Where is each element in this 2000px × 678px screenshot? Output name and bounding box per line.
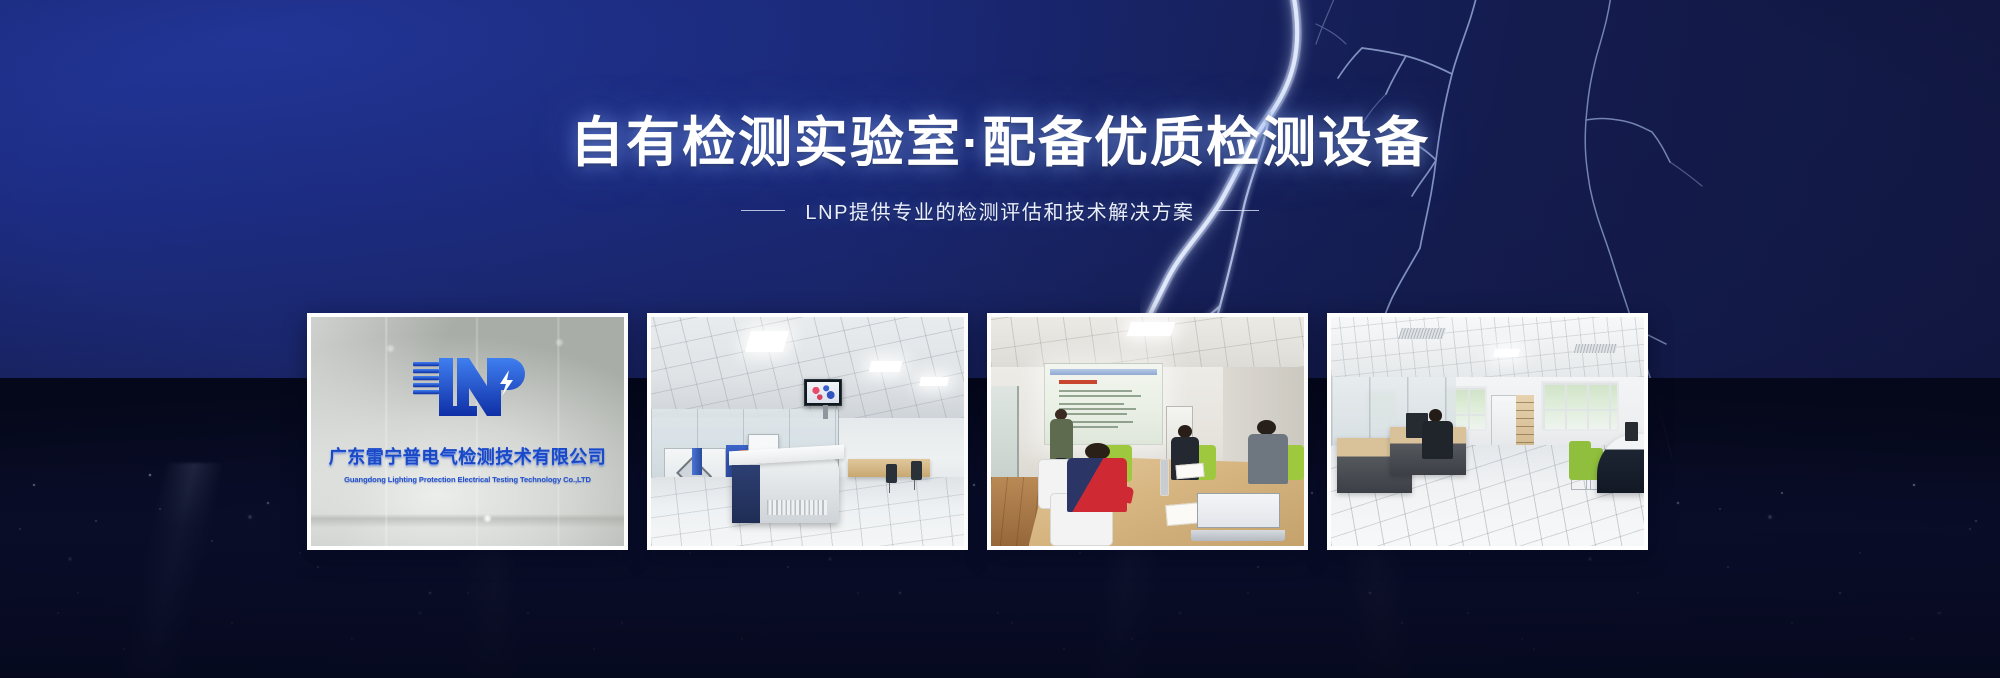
photo-gallery: 广东雷宁普电气检测技术有限公司 Guangdong Lighting Prote…: [307, 313, 1648, 550]
monitor-mount: [823, 405, 828, 419]
page-subtitle: LNP提供专业的检测评估和技术解决方案: [805, 196, 1194, 225]
photo-company-signage: 广东雷宁普电气检测技术有限公司 Guangdong Lighting Prote…: [311, 317, 624, 546]
slide-line: [1059, 395, 1141, 397]
photo-open-office: [1331, 317, 1644, 546]
attendee-head: [1178, 425, 1192, 438]
console-vents: [767, 500, 827, 515]
ceiling-panel-light: [869, 361, 903, 372]
subheadline-row: LNP提供专业的检测评估和技术解决方案: [0, 196, 2000, 225]
control-console: [732, 454, 838, 523]
attendee-front: [1066, 443, 1129, 539]
signage-company-name-cn: 广东雷宁普电气检测技术有限公司: [329, 443, 607, 469]
meeting-door: [991, 386, 1019, 487]
lab-chair: [911, 461, 922, 480]
wall-glare-icon: [483, 514, 492, 523]
ceiling-panel-light: [1493, 349, 1520, 357]
gallery-card-training-meeting-room[interactable]: [987, 313, 1308, 550]
slide-titlebar: [1050, 369, 1158, 375]
slide-heading: [1059, 380, 1096, 384]
ceiling-panel-light: [1126, 322, 1174, 336]
rule-right-icon: [1215, 210, 1259, 211]
ceiling-vent: [1398, 328, 1446, 339]
water-bottle: [1160, 459, 1169, 496]
photo-training-meeting-room: [991, 317, 1304, 546]
rule-left-icon: [741, 210, 785, 211]
wall-glare-icon: [555, 338, 564, 347]
meeting-room-scene: [991, 317, 1304, 546]
office-scene: [1331, 317, 1644, 546]
slide-line: [1059, 390, 1132, 392]
signage-wall: [311, 317, 624, 546]
gallery-card-testing-laboratory[interactable]: [647, 313, 968, 550]
ceiling-panel-light: [745, 331, 788, 352]
gallery-card-company-signage[interactable]: 广东雷宁普电气检测技术有限公司 Guangdong Lighting Prote…: [307, 313, 628, 550]
attendee-body: [1248, 434, 1289, 484]
counter-monitor: [1625, 422, 1638, 440]
hero-banner: 自有检测实验室·配备优质检测设备 LNP提供专业的检测评估和技术解决方案: [0, 0, 2000, 678]
presenter-head: [1055, 409, 1067, 420]
monitor-screen: [807, 382, 839, 403]
gallery-card-open-office[interactable]: [1327, 313, 1648, 550]
attendee-right: [1248, 420, 1289, 484]
attendee-head: [1257, 420, 1276, 435]
office-worker: [1422, 409, 1453, 459]
lab-scene: [651, 317, 964, 546]
laptop-screen: [1197, 493, 1280, 528]
worker-body: [1422, 421, 1453, 459]
ceiling-panel-light: [919, 377, 949, 386]
lnp-logo-icon: [405, 354, 531, 418]
laptop: [1191, 493, 1285, 541]
slide-line: [1059, 403, 1123, 405]
office-window: [1541, 381, 1619, 431]
signage-company-name-en: Guangdong Lighting Protection Electrical…: [344, 475, 591, 484]
laptop-base: [1191, 530, 1285, 542]
lab-chair: [886, 464, 897, 483]
paper-stack: [1175, 462, 1204, 478]
page-title: 自有检测实验室·配备优质检测设备: [570, 112, 1430, 176]
ceiling-vent: [1574, 344, 1617, 353]
photo-testing-laboratory: [651, 317, 964, 546]
wall-monitor: [804, 379, 842, 406]
lab-blue-column: [692, 448, 702, 475]
headline-block: 自有检测实验室·配备优质检测设备 LNP提供专业的检测评估和技术解决方案: [0, 112, 2000, 225]
console-side-panel: [732, 465, 760, 523]
worker-head: [1429, 409, 1443, 422]
